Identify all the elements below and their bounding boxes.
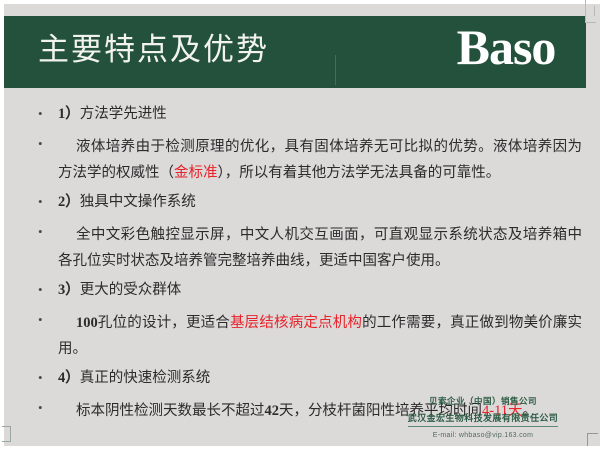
page-edge-left: [0, 0, 4, 450]
slide-canvas: 主要特点及优势 Baso 贝索企业 •1）方法学先进性•液体培养由于检测原理的优…: [0, 0, 600, 450]
footer-email: E-mail: whbaso@vip.163.com: [378, 429, 588, 442]
bullet-marker-icon: •: [38, 398, 50, 418]
page-edge-bottom: [0, 446, 600, 450]
bullet-heading-label: 真正的快速检测系统: [80, 370, 211, 386]
brand-logo: Baso 贝索企业: [426, 22, 586, 89]
page-title: 主要特点及优势: [38, 30, 269, 70]
crop-mark-bottom-left-icon: [2, 426, 11, 442]
bullet-body-text: 全中文彩色触控显示屏，中文人机交互画面，可直观显示系统状态及培养箱中各孔位实时状…: [58, 222, 582, 274]
bullet-marker-icon: •: [38, 104, 50, 124]
bullet-heading-row: •3）更大的受众群体: [0, 280, 600, 310]
bullet-heading-number: 3）: [58, 282, 80, 298]
crop-mark-top-right-secondary-icon: [594, 6, 600, 16]
bullet-heading-text: 4）真正的快速检测系统: [58, 370, 210, 386]
bullet-body-text: 液体培养由于检测原理的优化，具有固体培养无可比拟的优势。液体培养因为方法学的权威…: [58, 134, 582, 186]
bullet-block: •3）更大的受众群体•100孔位的设计，更适合基层结核病定点机构的工作需要，真正…: [0, 280, 600, 362]
bullet-block: •1）方法学先进性•液体培养由于检测原理的优化，具有固体培养无可比拟的优势。液体…: [0, 104, 600, 186]
emphasis-number: 42: [265, 403, 280, 419]
page-edge-top: [0, 0, 600, 4]
bullet-body-row: •全中文彩色触控显示屏，中文人机交互画面，可直观显示系统状态及培养箱中各孔位实时…: [0, 222, 600, 274]
bullet-heading-row: •1）方法学先进性: [0, 104, 600, 134]
body-text-run: ），所以有着其他方法学无法具备的可靠性。: [218, 165, 501, 181]
bullet-heading-number: 1）: [58, 106, 80, 122]
bullet-body-row: •液体培养由于检测原理的优化，具有固体培养无可比拟的优势。液体培养因为方法学的权…: [0, 134, 600, 186]
bullet-marker-icon: •: [38, 280, 50, 300]
highlighted-term: 基层结核病定点机构: [230, 315, 362, 331]
highlighted-term: 金标准: [174, 165, 218, 181]
body-text-run: 全中文彩色触控显示屏，中文人机交互画面，可直观显示系统状态及培养箱中各孔位实时状…: [58, 227, 582, 269]
title-divider-tick: [335, 55, 336, 85]
bullet-heading-label: 独具中文操作系统: [80, 194, 196, 210]
emphasis-number: 100: [76, 315, 98, 331]
logo-wordmark: Baso: [426, 22, 586, 72]
bullet-heading-label: 方法学先进性: [80, 106, 167, 122]
bullet-heading-row: •2）独具中文操作系统: [0, 192, 600, 222]
bullet-marker-icon: •: [38, 310, 50, 330]
crop-mark-bottom-right-icon: [587, 433, 598, 446]
body-text-run: 标本阴性检测天数最长不超过: [76, 403, 265, 419]
bullet-body-text: 100孔位的设计，更适合基层结核病定点机构的工作需要，真正做到物美价廉实用。: [58, 310, 582, 362]
footer-contact: 贝索企业（中国）销售公司 武汉金宏生物科技发展有限责任公司 E-mail: wh…: [378, 395, 588, 442]
bullet-marker-icon: •: [38, 368, 50, 388]
bullet-heading-row: •4）真正的快速检测系统: [0, 368, 600, 398]
footer-company-legal: 武汉金宏生物科技发展有限责任公司: [408, 411, 558, 427]
bullet-heading-text: 1）方法学先进性: [58, 106, 167, 122]
bullet-heading-text: 2）独具中文操作系统: [58, 194, 196, 210]
bullet-heading-label: 更大的受众群体: [80, 282, 182, 298]
bullet-marker-icon: •: [38, 222, 50, 242]
bullet-heading-text: 3）更大的受众群体: [58, 282, 181, 298]
bullet-marker-icon: •: [38, 192, 50, 212]
bullet-marker-icon: •: [38, 134, 50, 154]
body-text-run: 孔位的设计，更适合: [98, 315, 230, 331]
bullet-heading-number: 2）: [58, 194, 80, 210]
bullet-heading-number: 4）: [58, 370, 80, 386]
footer-company-sales: 贝索企业（中国）销售公司: [378, 395, 588, 408]
bullet-body-row: •100孔位的设计，更适合基层结核病定点机构的工作需要，真正做到物美价廉实用。: [0, 310, 600, 362]
logo-subtitle: 贝索企业: [426, 75, 586, 89]
bullet-content: •1）方法学先进性•液体培养由于检测原理的优化，具有固体培养无可比拟的优势。液体…: [0, 104, 600, 430]
bullet-block: •2）独具中文操作系统•全中文彩色触控显示屏，中文人机交互画面，可直观显示系统状…: [0, 192, 600, 274]
